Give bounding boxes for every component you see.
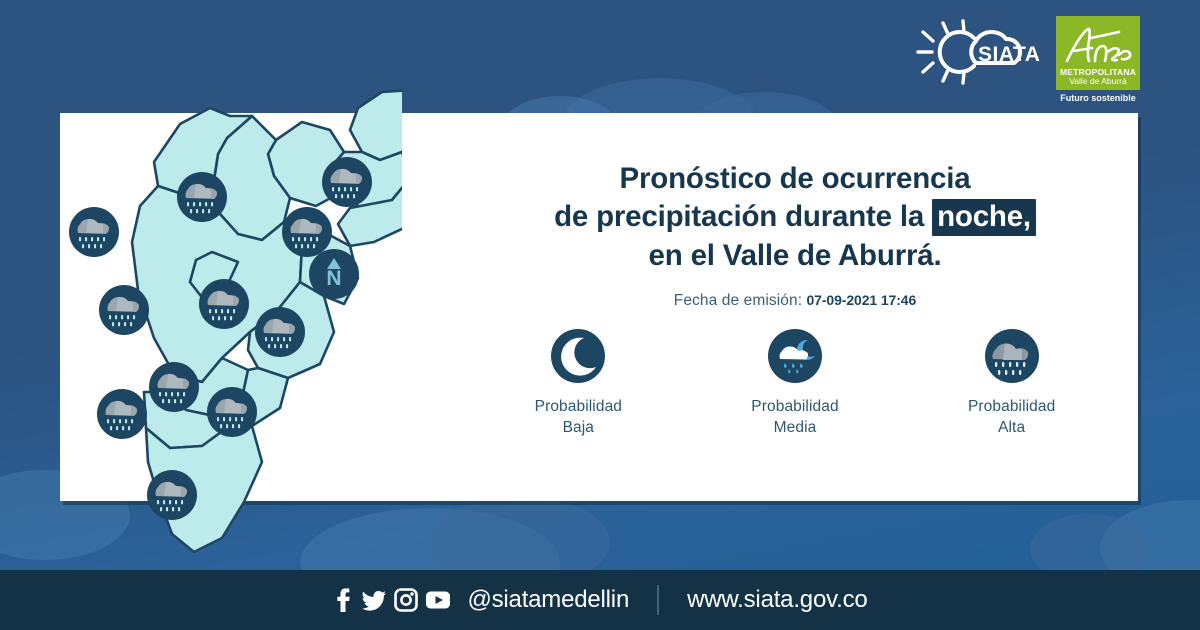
logo-group: SIATA METROPOLITANA Valle de Aburrá xyxy=(912,16,1140,108)
headline-line-2-text: de precipitación durante la xyxy=(554,200,924,233)
legend-label-media-line2: Media xyxy=(751,418,838,439)
emission-date: Fecha de emisión: 07-09-2021 17:46 xyxy=(470,292,1120,310)
headline-block: Pronóstico de ocurrencia de precipitació… xyxy=(470,160,1120,310)
area-metropolitana-logo: METROPOLITANA Valle de Aburrá Futuro sos… xyxy=(1056,16,1140,108)
moon-icon xyxy=(550,328,606,384)
map-marker[interactable] xyxy=(99,285,149,335)
map-marker[interactable] xyxy=(69,207,119,257)
legend-item-alta: Probabilidad Alta xyxy=(927,328,1097,438)
map-marker[interactable] xyxy=(282,207,332,257)
map-marker[interactable] xyxy=(147,470,197,520)
footer-bar: @siatamedellin www.siata.gov.co xyxy=(0,570,1200,630)
social-handle[interactable]: @siatamedellin xyxy=(467,586,629,614)
infographic-canvas: SIATA METROPOLITANA Valle de Aburrá xyxy=(0,0,1200,630)
website-url[interactable]: www.siata.gov.co xyxy=(687,586,867,614)
siata-logo: SIATA xyxy=(912,16,1042,88)
compass-north-icon: N xyxy=(309,249,359,299)
legend-label-baja-line1: Probabilidad xyxy=(535,397,622,418)
youtube-icon[interactable] xyxy=(425,590,451,610)
legend-label-media: Probabilidad Media xyxy=(751,397,838,438)
page-title: Pronóstico de ocurrencia de precipitació… xyxy=(470,160,1120,275)
legend-label-alta-line2: Alta xyxy=(968,418,1055,439)
siata-logo-text: SIATA xyxy=(978,43,1040,66)
map-marker[interactable] xyxy=(207,387,257,437)
map-marker[interactable] xyxy=(177,172,227,222)
emission-value: 07-09-2021 17:46 xyxy=(806,292,916,308)
footer-divider xyxy=(657,585,659,615)
area-logo-line3: Futuro sostenible xyxy=(1056,90,1140,103)
area-script-icon xyxy=(1061,24,1135,68)
facebook-icon[interactable] xyxy=(332,587,354,613)
headline-line-2: de precipitación durante la noche, xyxy=(470,198,1120,236)
map-region-barbosa xyxy=(350,90,402,160)
map-marker[interactable] xyxy=(199,279,249,329)
legend-label-alta-line1: Probabilidad xyxy=(968,397,1055,418)
legend-item-media: Probabilidad Media xyxy=(710,328,880,438)
twitter-icon[interactable] xyxy=(361,587,387,613)
legend: Probabilidad Baja Probabilidad Media xyxy=(470,328,1120,438)
headline-line-3: en el Valle de Aburrá. xyxy=(470,237,1120,275)
legend-label-media-line1: Probabilidad xyxy=(751,397,838,418)
legend-label-baja: Probabilidad Baja xyxy=(535,397,622,438)
area-logo-line2: Valle de Aburrá xyxy=(1069,77,1127,87)
map-marker[interactable] xyxy=(322,157,372,207)
instagram-icon[interactable] xyxy=(394,588,418,612)
legend-label-baja-line2: Baja xyxy=(535,418,622,439)
map-marker[interactable] xyxy=(97,389,147,439)
legend-label-alta: Probabilidad Alta xyxy=(968,397,1055,438)
compass-label: N xyxy=(326,267,341,290)
cloud-heavy-rain-icon xyxy=(984,328,1040,384)
valle-de-aburra-map: N xyxy=(62,82,402,562)
social-icons xyxy=(332,587,451,613)
legend-item-baja: Probabilidad Baja xyxy=(493,328,663,438)
headline-line-1: Pronóstico de ocurrencia xyxy=(470,160,1120,198)
cloud-moon-rain-icon xyxy=(767,328,823,384)
headline-highlight: noche, xyxy=(932,199,1036,236)
map-marker[interactable] xyxy=(255,307,305,357)
map-marker[interactable] xyxy=(149,362,199,412)
area-logo-green-box: METROPOLITANA Valle de Aburrá xyxy=(1056,16,1140,90)
emission-label: Fecha de emisión: xyxy=(674,292,802,309)
